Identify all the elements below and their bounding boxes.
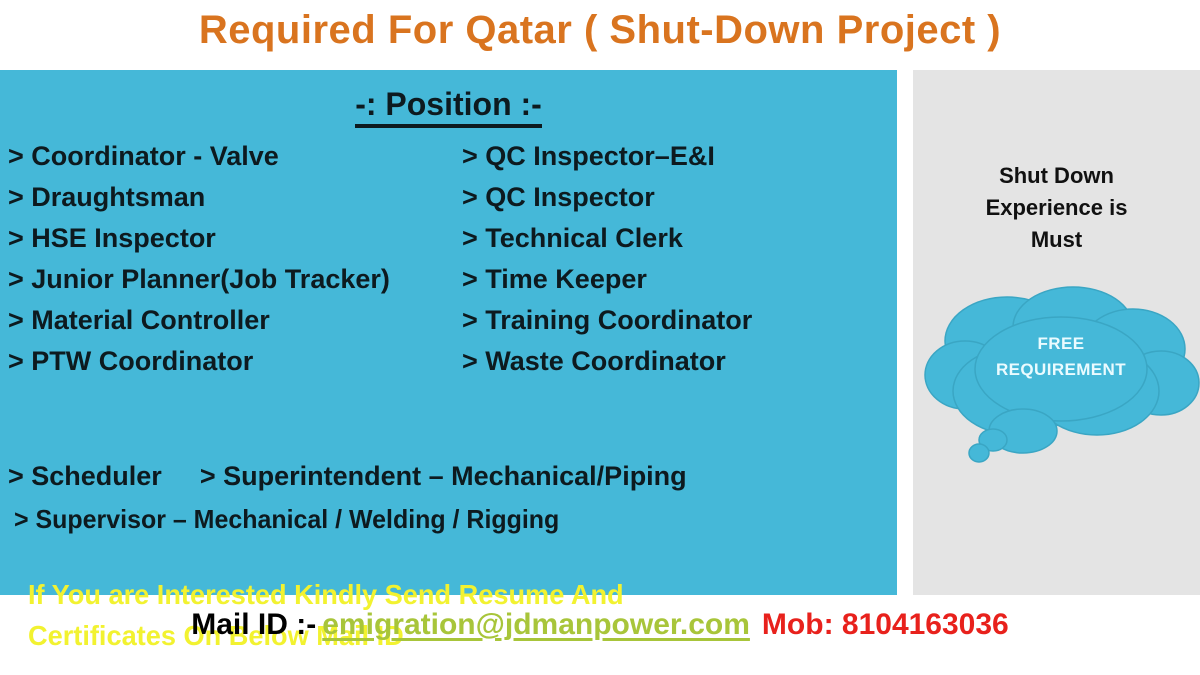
- position-cell-right: > QC Inspector–E&I: [462, 143, 897, 170]
- position-item: > Junior Planner(Job Tracker): [8, 264, 390, 294]
- position-item: > Supervisor – Mechanical / Welding / Ri…: [14, 504, 559, 534]
- positions-heading: -: Position :-: [0, 86, 897, 123]
- position-cell-left: > Coordinator - Valve: [0, 143, 462, 170]
- position-cell-left: > Draughtsman: [0, 184, 462, 211]
- position-item: > Scheduler: [8, 461, 162, 491]
- position-item: > HSE Inspector: [8, 223, 216, 253]
- position-cell-left: > Junior Planner(Job Tracker): [0, 266, 462, 293]
- mail-id-label: Mail ID :-: [191, 608, 316, 641]
- notice-line-2: Experience is: [913, 192, 1200, 224]
- position-cell-right: > QC Inspector: [462, 184, 897, 211]
- positions-heading-text: -: Position :-: [355, 86, 542, 128]
- position-item: > Superintendent – Mechanical/Piping: [200, 461, 687, 491]
- position-cell-left: > Material Controller: [0, 307, 462, 334]
- phone-number: Mob: 8104163036: [762, 608, 1009, 641]
- position-row-wide-scheduler: > Scheduler> Superintendent – Mechanical…: [8, 461, 687, 492]
- page-title: Required For Qatar ( Shut-Down Project ): [0, 8, 1200, 53]
- positions-panel: -: Position :- > Coordinator - Valve > Q…: [0, 70, 897, 595]
- position-item: > QC Inspector–E&I: [462, 141, 715, 171]
- position-item: > Coordinator - Valve: [8, 141, 279, 171]
- notice-line-1: Shut Down: [913, 160, 1200, 192]
- position-item: > Waste Coordinator: [462, 346, 726, 376]
- position-item: > Draughtsman: [8, 182, 205, 212]
- shutdown-experience-notice: Shut Down Experience is Must: [913, 160, 1200, 256]
- position-item: > Technical Clerk: [462, 223, 683, 253]
- footer-contact: Mail ID :-emigration@jdmanpower.comMob: …: [0, 608, 1200, 642]
- position-row: > Coordinator - Valve > QC Inspector–E&I: [0, 136, 897, 177]
- notice-line-3: Must: [913, 224, 1200, 256]
- cloud-icon: [921, 283, 1200, 483]
- position-cell-right: > Time Keeper: [462, 266, 897, 293]
- position-row: > Junior Planner(Job Tracker) > Time Kee…: [0, 259, 897, 300]
- position-row: > PTW Coordinator > Waste Coordinator: [0, 341, 897, 382]
- free-requirement-cloud: FREE REQUIREMENT: [921, 283, 1200, 483]
- email-link[interactable]: emigration@jdmanpower.com: [322, 608, 750, 641]
- notice-panel: Shut Down Experience is Must FREE REQUIR…: [913, 70, 1200, 595]
- position-row: > HSE Inspector > Technical Clerk: [0, 218, 897, 259]
- position-row: > Material Controller > Training Coordin…: [0, 300, 897, 341]
- positions-list: > Coordinator - Valve > QC Inspector–E&I…: [0, 136, 897, 382]
- position-cell-left: > PTW Coordinator: [0, 348, 462, 375]
- position-row-wide-supervisor: > Supervisor – Mechanical / Welding / Ri…: [14, 504, 559, 535]
- position-item: > Material Controller: [8, 305, 270, 335]
- position-cell-right: > Waste Coordinator: [462, 348, 897, 375]
- position-item: > Time Keeper: [462, 264, 647, 294]
- position-row: > Draughtsman > QC Inspector: [0, 177, 897, 218]
- position-cell-right: > Technical Clerk: [462, 225, 897, 252]
- position-item: > QC Inspector: [462, 182, 655, 212]
- position-cell-right: > Training Coordinator: [462, 307, 897, 334]
- position-item: > PTW Coordinator: [8, 346, 253, 376]
- position-cell-left: > HSE Inspector: [0, 225, 462, 252]
- position-item: > Training Coordinator: [462, 305, 752, 335]
